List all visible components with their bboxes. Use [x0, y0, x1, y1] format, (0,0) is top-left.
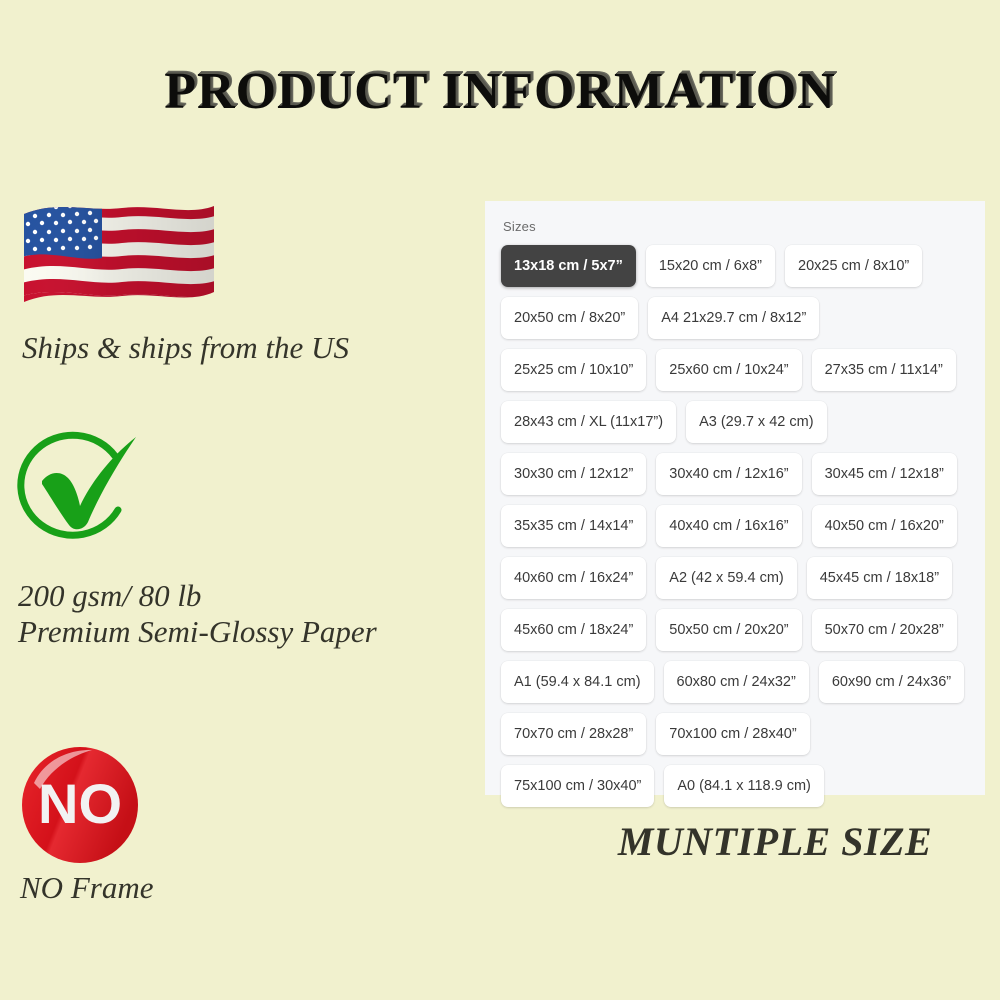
sizes-panel: Sizes 13x18 cm / 5x7”15x20 cm / 6x8”20x2…	[485, 201, 985, 795]
size-option-chip[interactable]: 50x50 cm / 20x20”	[656, 609, 801, 651]
size-option-chip[interactable]: 70x70 cm / 28x28”	[501, 713, 646, 755]
size-option-chip[interactable]: 45x60 cm / 18x24”	[501, 609, 646, 651]
size-option-chip[interactable]: 28x43 cm / XL (11x17”)	[501, 401, 676, 443]
green-checkmark-icon	[14, 426, 160, 560]
us-flag-icon	[18, 196, 218, 318]
size-option-chip[interactable]: 40x50 cm / 16x20”	[812, 505, 957, 547]
paper-weight-line: 200 gsm/ 80 lb	[18, 578, 377, 614]
size-option-chip[interactable]: A4 21x29.7 cm / 8x12”	[648, 297, 819, 339]
size-option-chip[interactable]: 30x45 cm / 12x18”	[812, 453, 957, 495]
paper-type-line: Premium Semi-Glossy Paper	[18, 614, 377, 650]
size-option-chip[interactable]: 30x30 cm / 12x12”	[501, 453, 646, 495]
size-option-chip[interactable]: 40x60 cm / 16x24”	[501, 557, 646, 599]
size-option-chip[interactable]: 60x80 cm / 24x32”	[664, 661, 809, 703]
svg-text:NO: NO	[38, 772, 122, 835]
size-option-chip[interactable]: 20x50 cm / 8x20”	[501, 297, 638, 339]
size-option-chip[interactable]: A3 (29.7 x 42 cm)	[686, 401, 826, 443]
no-badge-icon: NO	[18, 743, 142, 867]
multiple-size-caption: MUNTIPLE SIZE	[575, 818, 975, 865]
size-option-chip[interactable]: 70x100 cm / 28x40”	[656, 713, 809, 755]
feature-no-frame-label: NO Frame	[20, 870, 153, 906]
size-option-chip[interactable]: 27x35 cm / 11x14”	[812, 349, 956, 391]
size-option-chip[interactable]: 13x18 cm / 5x7”	[501, 245, 636, 287]
page-title: PRODUCT INFORMATION	[0, 62, 1000, 121]
feature-ships-label: Ships & ships from the US	[22, 330, 349, 366]
size-option-chip[interactable]: A0 (84.1 x 118.9 cm)	[664, 765, 824, 807]
size-option-chip[interactable]: 60x90 cm / 24x36”	[819, 661, 964, 703]
sizes-panel-label: Sizes	[503, 219, 969, 234]
size-option-chip[interactable]: 35x35 cm / 14x14”	[501, 505, 646, 547]
size-option-chip[interactable]: 50x70 cm / 20x28”	[812, 609, 957, 651]
size-option-chip[interactable]: 20x25 cm / 8x10”	[785, 245, 922, 287]
size-option-chip[interactable]: 40x40 cm / 16x16”	[656, 505, 801, 547]
size-option-grid: 13x18 cm / 5x7”15x20 cm / 6x8”20x25 cm /…	[501, 245, 969, 807]
size-option-chip[interactable]: A1 (59.4 x 84.1 cm)	[501, 661, 654, 703]
feature-paper-label: 200 gsm/ 80 lb Premium Semi-Glossy Paper	[18, 578, 377, 650]
size-option-chip[interactable]: 30x40 cm / 12x16”	[656, 453, 801, 495]
size-option-chip[interactable]: 25x25 cm / 10x10”	[501, 349, 646, 391]
size-option-chip[interactable]: 45x45 cm / 18x18”	[807, 557, 952, 599]
size-option-chip[interactable]: 75x100 cm / 30x40”	[501, 765, 654, 807]
size-option-chip[interactable]: A2 (42 x 59.4 cm)	[656, 557, 796, 599]
size-option-chip[interactable]: 25x60 cm / 10x24”	[656, 349, 801, 391]
size-option-chip[interactable]: 15x20 cm / 6x8”	[646, 245, 775, 287]
